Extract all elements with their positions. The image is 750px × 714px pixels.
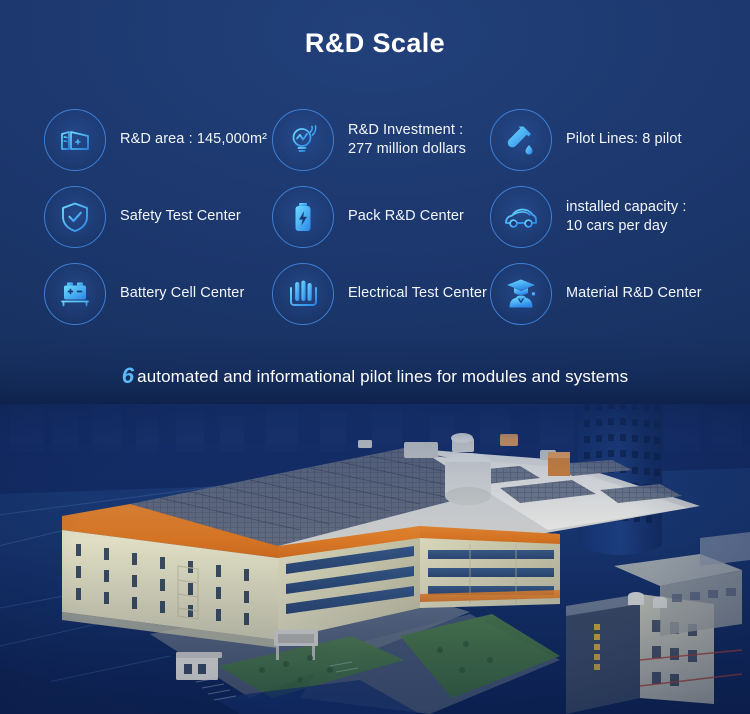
shield-check-icon [44,186,106,248]
battery-bolt-icon [272,186,334,248]
factory-aerial-illustration [0,398,750,714]
stat-item-installed-capacity[interactable]: installed capacity : 10 cars per day [490,178,750,255]
water-tank [445,453,491,505]
stats-row: Safety Test Center Pack R&D Cen [44,178,750,255]
graduate-person-icon [490,263,552,325]
test-tube-icon [490,109,552,171]
stat-item-battery-cell-center[interactable]: Battery Cell Center [44,255,272,332]
stat-item-material-rd-center[interactable]: Material R&D Center [490,255,750,332]
stats-row: Battery Cell Center [44,255,750,332]
lightbulb-chart-icon [272,109,334,171]
stat-label: R&D Investment : 277 million dollars [348,121,466,159]
stat-item-electrical-test-center[interactable]: Electrical Test Center [272,255,490,332]
car-battery-icon [44,263,106,325]
stat-label: Pilot Lines: 8 pilot [566,130,682,149]
stats-panel: R&D Scale [0,0,750,404]
page-title: R&D Scale [0,28,750,59]
stat-label: Electrical Test Center [348,284,487,303]
gate-house [176,652,222,680]
stat-label: Battery Cell Center [120,284,244,303]
factory-aerial-photo [0,398,750,714]
stat-item-pilot-lines[interactable]: Pilot Lines: 8 pilot [490,101,750,178]
stat-item-rd-area[interactable]: R&D area : 145,000m² [44,101,272,178]
stat-item-safety-test-center[interactable]: Safety Test Center [44,178,272,255]
stat-label: R&D area : 145,000m² [120,130,267,149]
factory-building-icon [44,109,106,171]
roof-stack [548,452,570,476]
stat-label: Material R&D Center [566,284,702,303]
tagline-number: 6 [122,363,134,388]
tagline: 6automated and informational pilot lines… [0,363,750,389]
tagline-text: automated and informational pilot lines … [137,367,628,386]
stat-label: Safety Test Center [120,207,241,226]
stat-label: Pack R&D Center [348,207,464,226]
stat-item-pack-rd-center[interactable]: Pack R&D Center [272,178,490,255]
stat-item-rd-investment[interactable]: R&D Investment : 277 million dollars [272,101,490,178]
stat-label: installed capacity : 10 cars per day [566,198,686,236]
test-tube-rack-icon [272,263,334,325]
stats-row: R&D area : 145,000m² [44,101,750,178]
stats-grid: R&D area : 145,000m² [44,101,750,332]
page-root: R&D Scale [0,0,750,714]
car-icon [490,186,552,248]
